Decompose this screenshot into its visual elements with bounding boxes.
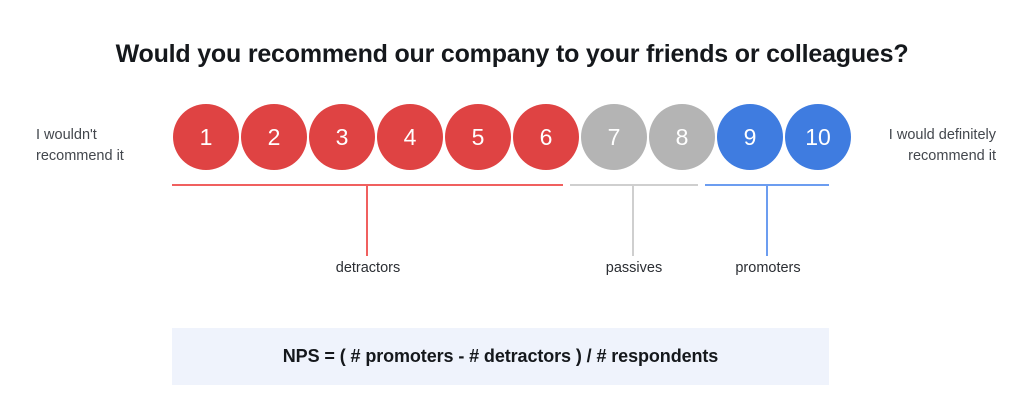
scale-option-1[interactable]: 1 <box>173 104 239 170</box>
nps-formula-text: NPS = ( # promoters - # detractors ) / #… <box>283 346 718 367</box>
bracket-passives <box>570 184 698 186</box>
scale-option-6[interactable]: 6 <box>513 104 579 170</box>
scale-label-low-line1: I wouldn't <box>36 125 168 146</box>
nps-diagram: Would you recommend our company to your … <box>0 0 1024 418</box>
scale-label-low: I wouldn't recommend it <box>36 125 168 167</box>
bracket-stem-detractors <box>366 184 368 256</box>
bracket-promoters <box>705 184 829 186</box>
bracket-detractors <box>172 184 563 186</box>
scale-label-high-line2: recommend it <box>856 146 996 167</box>
group-label-promoters: promoters <box>735 260 800 276</box>
scale-label-low-line2: recommend it <box>36 146 168 167</box>
scale-option-5[interactable]: 5 <box>445 104 511 170</box>
scale-option-4[interactable]: 4 <box>377 104 443 170</box>
nps-formula-box: NPS = ( # promoters - # detractors ) / #… <box>172 328 829 385</box>
scale-option-7[interactable]: 7 <box>581 104 647 170</box>
group-label-detractors: detractors <box>336 260 400 276</box>
bracket-stem-passives <box>632 184 634 256</box>
scale-option-8[interactable]: 8 <box>649 104 715 170</box>
scale-option-9[interactable]: 9 <box>717 104 783 170</box>
scale-option-2[interactable]: 2 <box>241 104 307 170</box>
scale-label-high-line1: I would definitely <box>856 125 996 146</box>
bracket-stem-promoters <box>766 184 768 256</box>
group-label-passives: passives <box>606 260 662 276</box>
scale-option-3[interactable]: 3 <box>309 104 375 170</box>
scale-label-high: I would definitely recommend it <box>856 125 996 167</box>
page-title: Would you recommend our company to your … <box>0 40 1024 69</box>
scale-option-10[interactable]: 10 <box>785 104 851 170</box>
nps-scale: 1 2 3 4 5 6 7 8 9 10 <box>173 104 851 170</box>
